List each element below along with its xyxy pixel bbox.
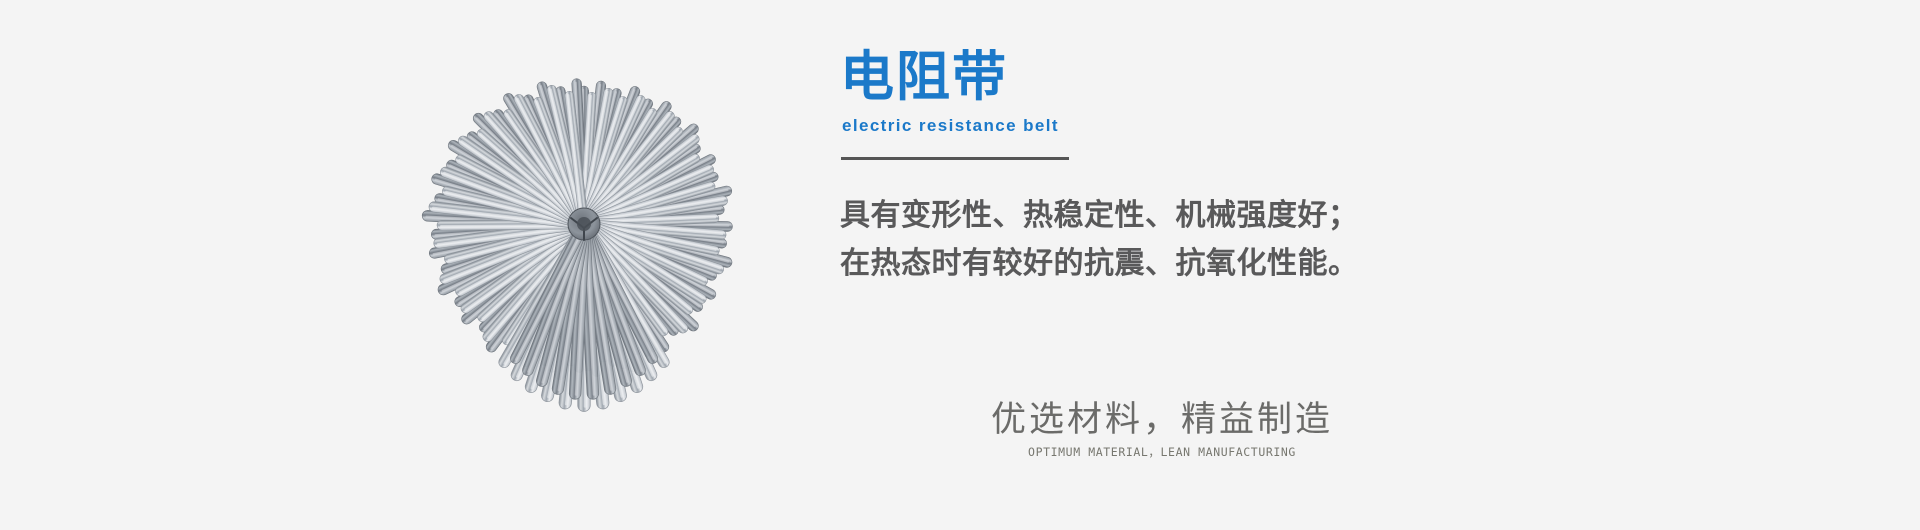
title-divider [841,157,1069,160]
slogan-chinese: 优选材料，精益制造 [952,398,1372,442]
slogan-block: 优选材料，精益制造 OPTIMUM MATERIAL，LEAN MANUFACT… [952,398,1372,459]
slogan-english: OPTIMUM MATERIAL，LEAN MANUFACTURING [952,445,1372,459]
product-image [372,78,796,428]
headline-block: 电阻带 electric resistance belt 具有变形性、热稳定性、… [840,48,1540,288]
description-line-1: 具有变形性、热稳定性、机械强度好； [840,192,1540,240]
description-line-2: 在热态时有较好的抗震、抗氧化性能。 [840,240,1540,288]
product-description: 具有变形性、热稳定性、机械强度好； 在热态时有较好的抗震、抗氧化性能。 [840,192,1540,288]
page-title: 电阻带 [840,48,1540,106]
page-subtitle: electric resistance belt [842,116,1540,136]
product-banner: 电阻带 electric resistance belt 具有变形性、热稳定性、… [0,0,1920,530]
